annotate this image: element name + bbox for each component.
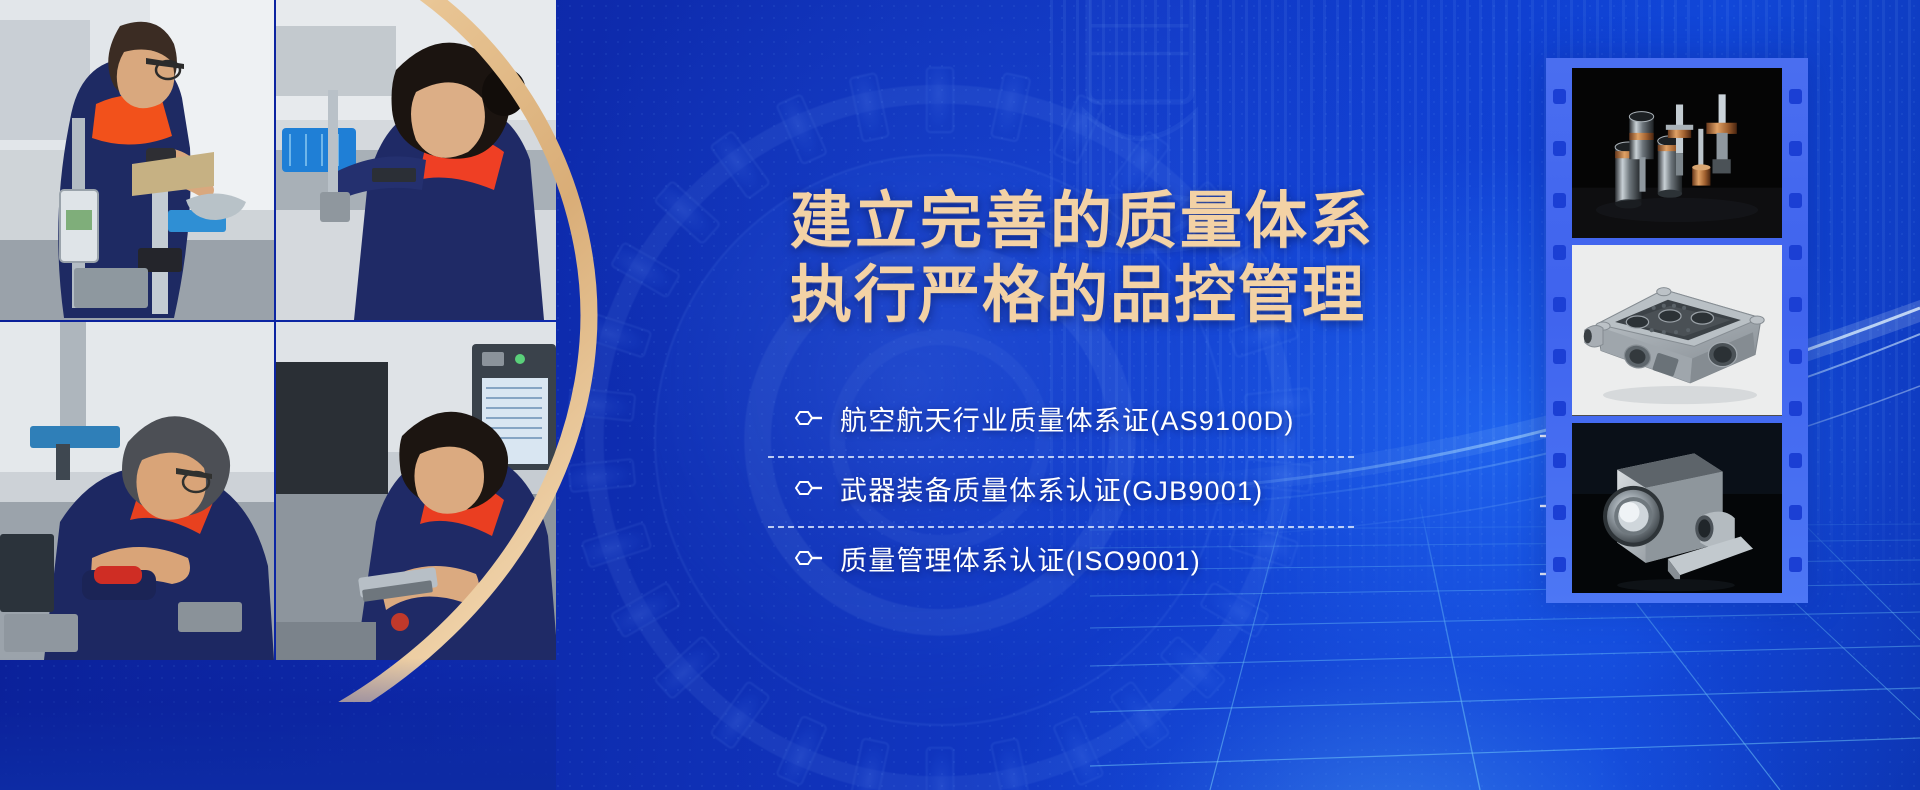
sprocket-hole [1789, 141, 1802, 156]
sprocket-hole [1553, 141, 1566, 156]
sprocket-hole [1789, 557, 1802, 572]
certification-list: 航空航天行业质量体系证(AS9100D) 武器装备质量体系认证(GJB9001) [790, 392, 1390, 602]
sprocket-hole [1553, 505, 1566, 520]
sprocket-hole [1789, 297, 1802, 312]
headline-line-2: 执行严格的品控管理 [790, 259, 1490, 333]
sprocket-hole [1789, 89, 1802, 104]
dashed-separator [768, 526, 1354, 528]
filmstrip-sprockets-right [1782, 58, 1808, 603]
product-filmstrip [1546, 58, 1808, 603]
certification-label: 质量管理体系认证(ISO9001) [840, 539, 1201, 578]
sprocket-hole [1553, 401, 1566, 416]
sprocket-hole [1553, 453, 1566, 468]
sprocket-hole [1789, 453, 1802, 468]
photo-collage [0, 0, 556, 660]
sprocket-hole [1789, 349, 1802, 364]
sprocket-hole [1553, 349, 1566, 364]
certification-row: 航空航天行业质量体系证(AS9100D) [790, 392, 1390, 462]
sprocket-hole [1553, 557, 1566, 572]
hexagon-bullet-icon [790, 478, 823, 498]
dashed-separator [768, 456, 1354, 458]
sprocket-hole [1553, 193, 1566, 208]
certification-label: 航空航天行业质量体系证(AS9100D) [840, 399, 1295, 438]
quality-system-banner: 建立完善的质量体系 执行严格的品控管理 航空航天行业质量体系证(AS9100D) [0, 0, 1920, 790]
sprocket-hole [1553, 297, 1566, 312]
sprocket-hole [1789, 505, 1802, 520]
certification-row: 质量管理体系认证(ISO9001) [790, 532, 1390, 602]
collage-photo-inspector-height-gauge [0, 0, 274, 320]
collage-photo-technician-bench-measurement [276, 0, 556, 320]
sprocket-hole [1553, 89, 1566, 104]
film-photo-bearing-block-assembly [1572, 423, 1782, 593]
collage-photo-cmm-operator [0, 322, 274, 660]
filmstrip-sprockets-left [1546, 58, 1572, 603]
hexagon-bullet-icon [790, 548, 823, 568]
sprocket-hole [1553, 245, 1566, 260]
collage-bottom-fade [0, 658, 556, 790]
headline-line-1: 建立完善的质量体系 [790, 185, 1490, 259]
collage-photo-machine-operator-terminal [276, 322, 556, 660]
headline-block: 建立完善的质量体系 执行严格的品控管理 [790, 185, 1490, 333]
certification-row: 武器装备质量体系认证(GJB9001) [790, 462, 1390, 532]
certification-label: 武器装备质量体系认证(GJB9001) [840, 469, 1263, 508]
film-photo-precision-turned-components [1572, 68, 1782, 238]
sprocket-hole [1789, 245, 1802, 260]
sprocket-hole [1789, 193, 1802, 208]
film-photo-machined-aluminum-housing [1572, 245, 1782, 415]
hexagon-bullet-icon [790, 408, 823, 428]
sprocket-hole [1789, 401, 1802, 416]
